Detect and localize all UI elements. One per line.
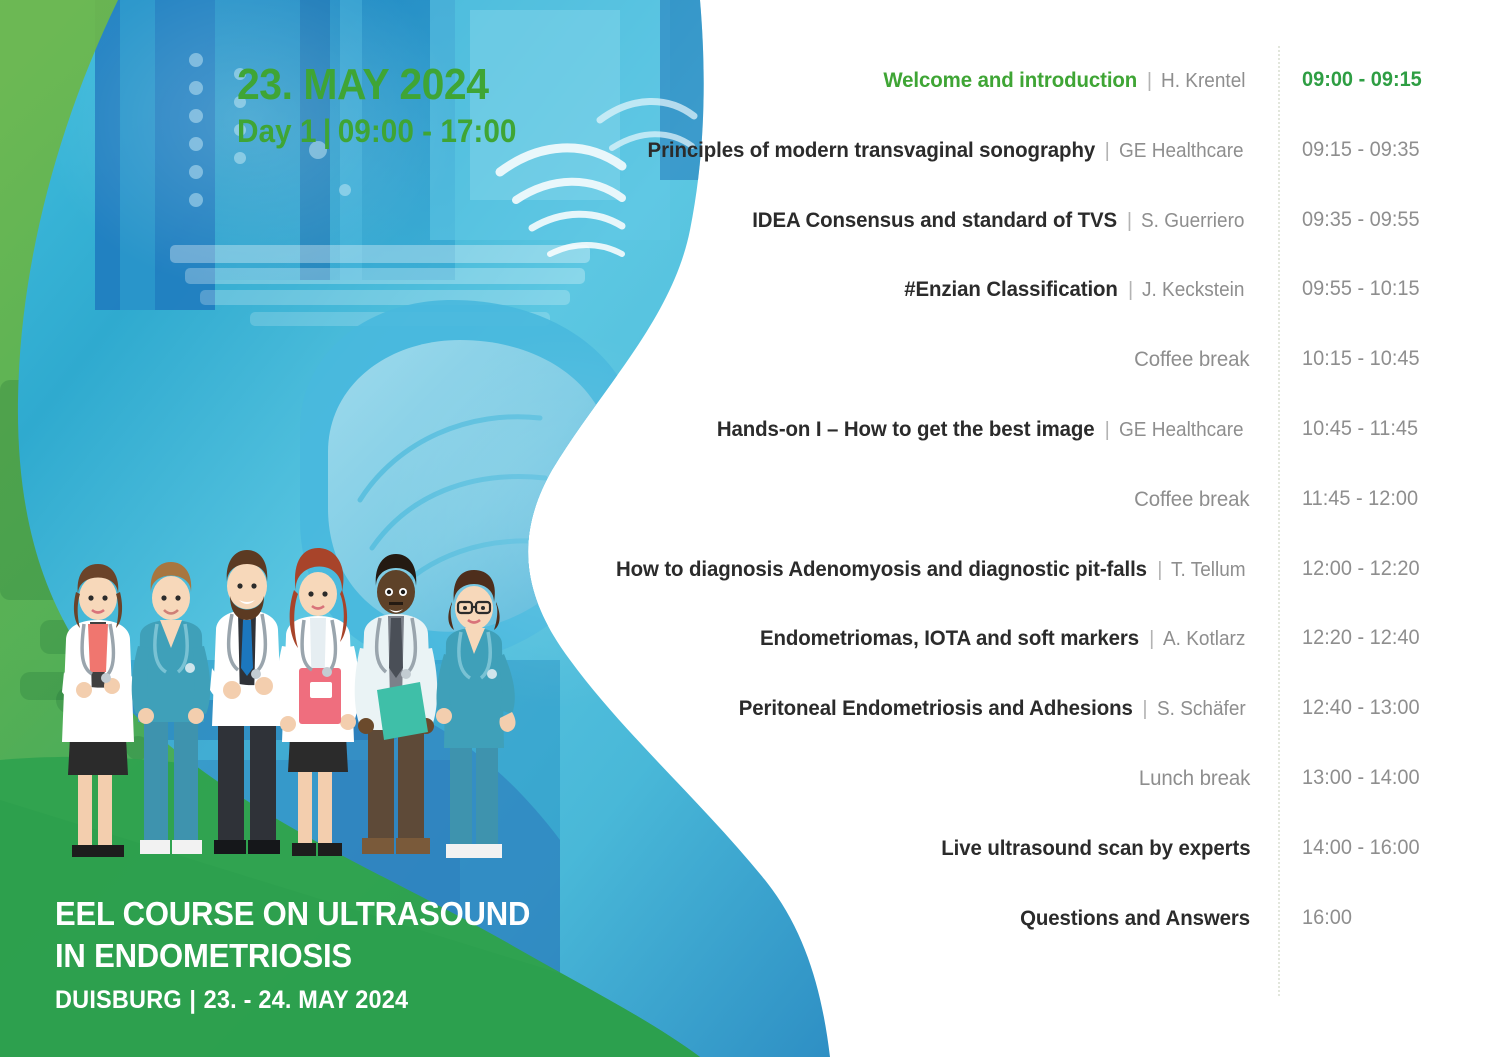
schedule-row-left: How to diagnosis Adenomyosis and diagnos… <box>588 554 1250 587</box>
schedule-row-left: Coffee break <box>1128 484 1250 517</box>
schedule-row: How to diagnosis Adenomyosis and diagnos… <box>690 554 1500 584</box>
agenda-page: 23. MAY 2024 Day 1|09:00 - 17:00 EEL COU… <box>0 0 1500 1057</box>
course-location-line: DUISBURG|23. - 24. MAY 2024 <box>55 986 530 1015</box>
schedule-row-left: Questions and Answers <box>1008 903 1250 936</box>
schedule-row-title: Endometriomas, IOTA and soft markers <box>760 623 1139 653</box>
schedule-row-left: Lunch break <box>1133 763 1250 796</box>
schedule-row: #Enzian Classification|J. Keckstein09:55… <box>690 274 1500 304</box>
schedule-row-left: Principles of modern transvaginal sonogr… <box>624 135 1250 168</box>
course-location-separator: | <box>182 986 204 1014</box>
schedule-row-title: Coffee break <box>1135 344 1250 374</box>
schedule-row-title: Coffee break <box>1135 484 1250 514</box>
schedule-row-title: Welcome and introduction <box>883 65 1137 95</box>
course-dates: 23. - 24. MAY 2024 <box>204 986 409 1014</box>
schedule-row: Principles of modern transvaginal sonogr… <box>690 135 1500 165</box>
schedule-row-time: 11:45 - 12:00 <box>1302 484 1418 514</box>
schedule-row-separator: | <box>1118 279 1142 301</box>
hero-day-separator: | <box>316 113 337 149</box>
schedule-row-time: 10:45 - 11:45 <box>1302 414 1418 444</box>
course-title-block: EEL COURSE ON ULTRASOUND IN ENDOMETRIOSI… <box>55 893 561 1015</box>
schedule-row-separator: | <box>1137 70 1161 92</box>
course-title-line-1: EEL COURSE ON ULTRASOUND <box>55 893 530 935</box>
schedule-row-left: Welcome and introduction|H. Krentel <box>870 65 1250 98</box>
hero-day-line: Day 1|09:00 - 17:00 <box>237 110 628 153</box>
schedule-row-title: Peritoneal Endometriosis and Adhesions <box>738 693 1132 723</box>
schedule-row-speaker: S. Schäfer <box>1157 694 1246 724</box>
schedule-row-separator: | <box>1132 698 1156 720</box>
schedule-row-speaker: T. Tellum <box>1171 555 1246 585</box>
schedule-row-separator: | <box>1147 559 1171 581</box>
schedule-row: Peritoneal Endometriosis and Adhesions|S… <box>690 693 1500 723</box>
schedule-row: Coffee break10:15 - 10:45 <box>690 344 1500 374</box>
hero-day-label: Day 1 <box>237 113 316 149</box>
schedule-row-time: 12:00 - 12:20 <box>1302 554 1420 584</box>
schedule-row-time: 10:15 - 10:45 <box>1302 344 1420 374</box>
schedule-row-speaker: A. Kotlarz <box>1163 624 1245 654</box>
schedule-row-title: IDEA Consensus and standard of TVS <box>752 205 1117 235</box>
pink-folder-icon <box>299 668 341 724</box>
hero-date-block: 23. MAY 2024 Day 1|09:00 - 17:00 <box>237 63 657 153</box>
teal-clipboard-icon <box>377 682 428 740</box>
schedule-row-left: IDEA Consensus and standard of TVS|S. Gu… <box>733 205 1250 238</box>
schedule-row-speaker: H. Krentel <box>1161 66 1245 96</box>
schedule-row-left: #Enzian Classification|J. Keckstein <box>893 274 1250 307</box>
course-location: DUISBURG <box>55 986 182 1014</box>
schedule-row: Endometriomas, IOTA and soft markers|A. … <box>690 623 1500 653</box>
course-title-line-2: IN ENDOMETRIOSIS <box>55 935 530 977</box>
hero-day-time: 09:00 - 17:00 <box>338 113 517 149</box>
schedule-row-speaker: GE Healthcare <box>1119 136 1244 166</box>
schedule-row-time: 09:35 - 09:55 <box>1302 205 1420 235</box>
schedule-row-time: 12:20 - 12:40 <box>1302 623 1420 653</box>
schedule-row-title: Questions and Answers <box>1020 903 1250 933</box>
schedule-row-time: 12:40 - 13:00 <box>1302 693 1420 723</box>
schedule-row-time: 14:00 - 16:00 <box>1302 833 1420 863</box>
schedule-row-time: 09:55 - 10:15 <box>1302 274 1420 304</box>
schedule-row: Lunch break13:00 - 14:00 <box>690 763 1500 793</box>
schedule-row-time: 09:15 - 09:35 <box>1302 135 1420 165</box>
schedule-panel: Welcome and introduction|H. Krentel09:00… <box>690 0 1500 1057</box>
schedule-row-title: Hands-on I – How to get the best image <box>717 414 1095 444</box>
schedule-row-left: Endometriomas, IOTA and soft markers|A. … <box>740 623 1250 656</box>
schedule-row-separator: | <box>1095 140 1119 162</box>
schedule-row: Questions and Answers16:00 <box>690 903 1500 933</box>
schedule-row-time: 09:00 - 09:15 <box>1302 65 1422 95</box>
schedule-row-time: 13:00 - 14:00 <box>1302 763 1420 793</box>
schedule-row-left: Hands-on I – How to get the best image|G… <box>697 414 1250 447</box>
hero-date-title: 23. MAY 2024 <box>237 63 628 107</box>
schedule-row-speaker: GE Healthcare <box>1119 415 1244 445</box>
schedule-row: Live ultrasound scan by experts14:00 - 1… <box>690 833 1500 863</box>
schedule-row-separator: | <box>1139 628 1163 650</box>
schedule-row: IDEA Consensus and standard of TVS|S. Gu… <box>690 205 1500 235</box>
schedule-row-left: Coffee break <box>1128 344 1250 377</box>
schedule-row-title: Live ultrasound scan by experts <box>941 833 1250 863</box>
schedule-row-separator: | <box>1117 210 1141 232</box>
schedule-row-separator: | <box>1095 419 1119 441</box>
schedule-row: Hands-on I – How to get the best image|G… <box>690 414 1500 444</box>
schedule-row: Welcome and introduction|H. Krentel09:00… <box>690 65 1500 95</box>
schedule-row-title: Principles of modern transvaginal sonogr… <box>647 135 1095 165</box>
schedule-row-title: How to diagnosis Adenomyosis and diagnos… <box>616 554 1147 584</box>
schedule-row-time: 16:00 <box>1302 903 1352 933</box>
schedule-row-left: Peritoneal Endometriosis and Adhesions|S… <box>718 693 1250 726</box>
schedule-row-title: Lunch break <box>1139 763 1250 793</box>
schedule-row: Coffee break11:45 - 12:00 <box>690 484 1500 514</box>
schedule-row-speaker: S. Guerriero <box>1141 206 1244 236</box>
schedule-row-speaker: J. Keckstein <box>1142 275 1244 305</box>
schedule-row-title: #Enzian Classification <box>904 274 1118 304</box>
schedule-row-left: Live ultrasound scan by experts <box>925 833 1250 866</box>
